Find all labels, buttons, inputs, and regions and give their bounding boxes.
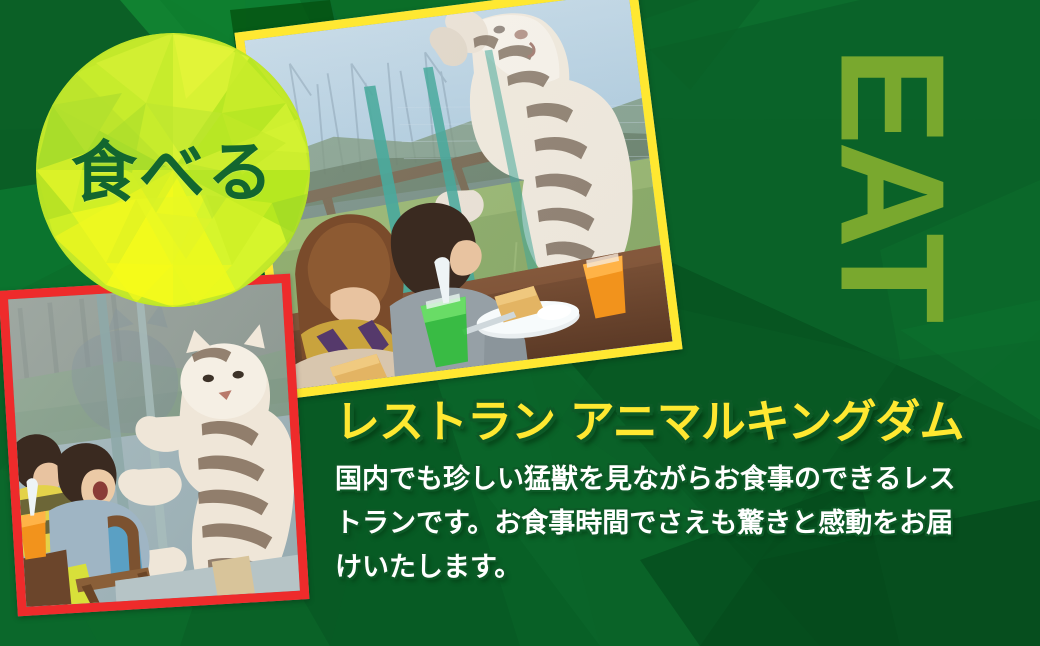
badge-label: 食べる: [36, 33, 310, 307]
photo-sub-illustration: [8, 283, 300, 607]
photo-child-tiger-window-sub: [0, 274, 309, 617]
description-text: 国内でも珍しい猛獣を見ながらお食事のできるレストランです。お食事時間でさえも驚き…: [335, 458, 965, 589]
copy-block: レストラン アニマルキングダム 国内でも珍しい猛獣を見ながらお食事のできるレスト…: [335, 398, 1015, 589]
badge-eat-circle: 食べる: [36, 33, 310, 307]
page-title: レストラン アニマルキングダム: [335, 398, 1015, 445]
eat-banner: EAT: [0, 0, 1040, 646]
